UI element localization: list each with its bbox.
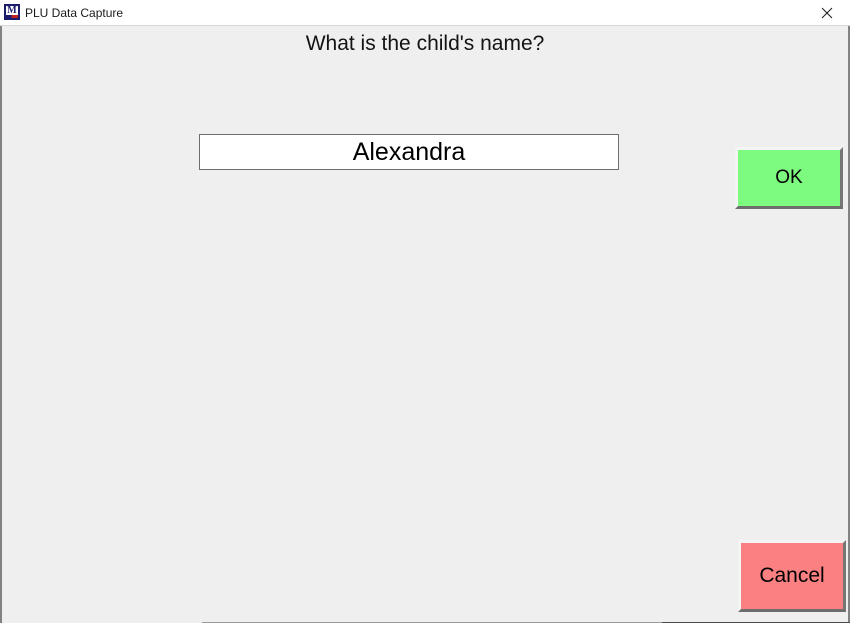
app-icon-letter: M: [7, 6, 16, 15]
ok-button-label: OK: [775, 167, 802, 189]
plu-data-capture-window: M PLU Data Capture What is the child's n…: [0, 0, 850, 623]
window-title: PLU Data Capture: [25, 0, 123, 26]
child-name-input[interactable]: [199, 134, 619, 170]
titlebar: M PLU Data Capture: [0, 0, 850, 26]
app-m-icon: M: [4, 4, 20, 20]
cancel-button-label: Cancel: [759, 564, 824, 588]
close-icon[interactable]: [804, 0, 850, 25]
app-icon-underline: [6, 15, 18, 18]
ok-button[interactable]: OK: [735, 147, 843, 209]
prompt-label: What is the child's name?: [2, 32, 848, 56]
dialog-body: What is the child's name? OK Cancel: [0, 26, 850, 623]
cancel-button[interactable]: Cancel: [738, 540, 846, 612]
